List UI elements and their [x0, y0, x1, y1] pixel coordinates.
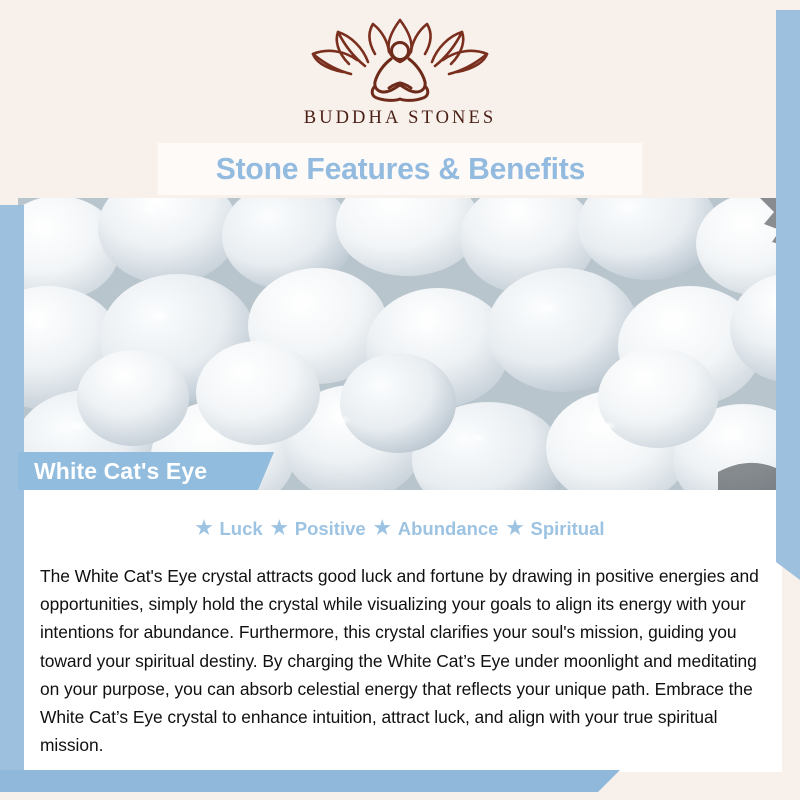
- lotus-meditation-icon: [305, 18, 495, 104]
- stone-photo: [18, 198, 800, 490]
- description-paragraph: The White Cat's Eye crystal attracts goo…: [32, 562, 768, 759]
- benefit-item-luck: ★ Luck: [195, 518, 262, 540]
- star-icon: ★: [271, 519, 288, 538]
- benefit-item-positive: ★ Positive: [263, 518, 366, 540]
- star-icon: ★: [374, 519, 391, 538]
- benefit-label: Luck: [220, 518, 263, 540]
- infographic-page: BUDDHA STONES Stone Features & Benefits: [0, 0, 800, 800]
- decor-bar-right: [776, 10, 800, 562]
- benefit-label: Spiritual: [531, 518, 605, 540]
- benefits-list: ★ Luck ★ Positive ★ Abundance ★ Spiritua…: [32, 518, 768, 540]
- star-icon: ★: [506, 519, 523, 538]
- star-icon: ★: [195, 519, 212, 538]
- benefit-item-spiritual: ★ Spiritual: [498, 518, 604, 540]
- stone-name-label: White Cat's Eye: [18, 452, 274, 490]
- content-panel: ★ Luck ★ Positive ★ Abundance ★ Spiritua…: [18, 490, 782, 772]
- decor-bar-left: [0, 205, 24, 785]
- brand-wordmark: BUDDHA STONES: [304, 108, 497, 129]
- section-title-banner: Stone Features & Benefits: [158, 143, 642, 195]
- brand-logo: BUDDHA STONES: [0, 18, 800, 129]
- decor-bar-bottom: [0, 770, 620, 792]
- benefit-label: Positive: [295, 518, 366, 540]
- benefit-item-abundance: ★ Abundance: [366, 518, 499, 540]
- stone-name-text: White Cat's Eye: [34, 458, 207, 485]
- benefit-label: Abundance: [398, 518, 499, 540]
- page-title: Stone Features & Benefits: [215, 151, 584, 187]
